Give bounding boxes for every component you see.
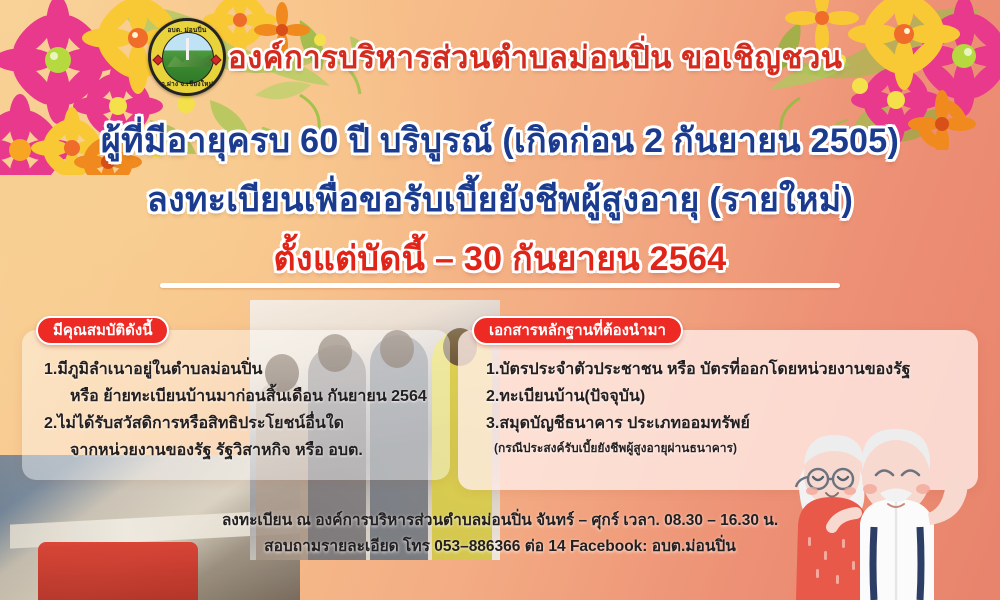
footer-line-1: ลงทะเบียน ณ องค์การบริหารส่วนตำบลม่อนปิ่… [0,508,1000,534]
qualifications-card: มีคุณสมบัติดังนี้ 1.มีภูมิลำเนาอยู่ในตำบ… [22,330,450,480]
list-item: 2.ไม่ได้รับสวัสดิการหรือสิทธิประโยชน์อื่… [22,410,450,437]
logo-landscape-emblem [162,32,214,84]
section-divider [160,283,840,288]
organization-logo-icon: อบต. ม่อนปิ่น อ.ฝาง จ.เชียงใหม่ [148,18,226,96]
list-item: 1.บัตรประจำตัวประชาชน หรือ บัตรที่ออกโดย… [458,356,978,383]
poster-canvas: อบต. ม่อนปิ่น อ.ฝาง จ.เชียงใหม่ องค์การบ… [0,0,1000,600]
headline-line-1: ผู้ที่มีอายุครบ 60 ปี บริบูรณ์ (เกิดก่อน… [0,113,1000,167]
poster-header-text: องค์การบริหารส่วนตำบลม่อนปิ่น ขอเชิญชวน [228,34,868,82]
qualifications-list: 1.มีภูมิลำเนาอยู่ในตำบลม่อนปิ่น หรือ ย้า… [22,356,450,464]
qualifications-badge: มีคุณสมบัติดังนี้ [36,316,169,345]
elderly-couple-illustration [790,405,1000,600]
logo-bottom-text: อ.ฝาง จ.เชียงใหม่ [151,79,223,89]
footer-contact-info: ลงทะเบียน ณ องค์การบริหารส่วนตำบลม่อนปิ่… [0,508,1000,560]
registration-date-line: ตั้งแต่บัดนี้ – 30 กันยายน 2564 [0,231,1000,285]
documents-badge: เอกสารหลักฐานที่ต้องนำมา [472,316,683,345]
list-item: จากหน่วยงานของรัฐ รัฐวิสาหกิจ หรือ อบต. [22,437,450,464]
list-item: 1.มีภูมิลำเนาอยู่ในตำบลม่อนปิ่น [22,356,450,383]
footer-line-2: สอบถามรายละเอียด โทร 053–886366 ต่อ 14 F… [0,534,1000,560]
list-item: หรือ ย้ายทะเบียนบ้านมาก่อนสิ้นเดือน กันย… [22,383,450,410]
headline-line-2: ลงทะเบียนเพื่อขอรับเบี้ยยังชีพผู้สูงอายุ… [0,172,1000,226]
